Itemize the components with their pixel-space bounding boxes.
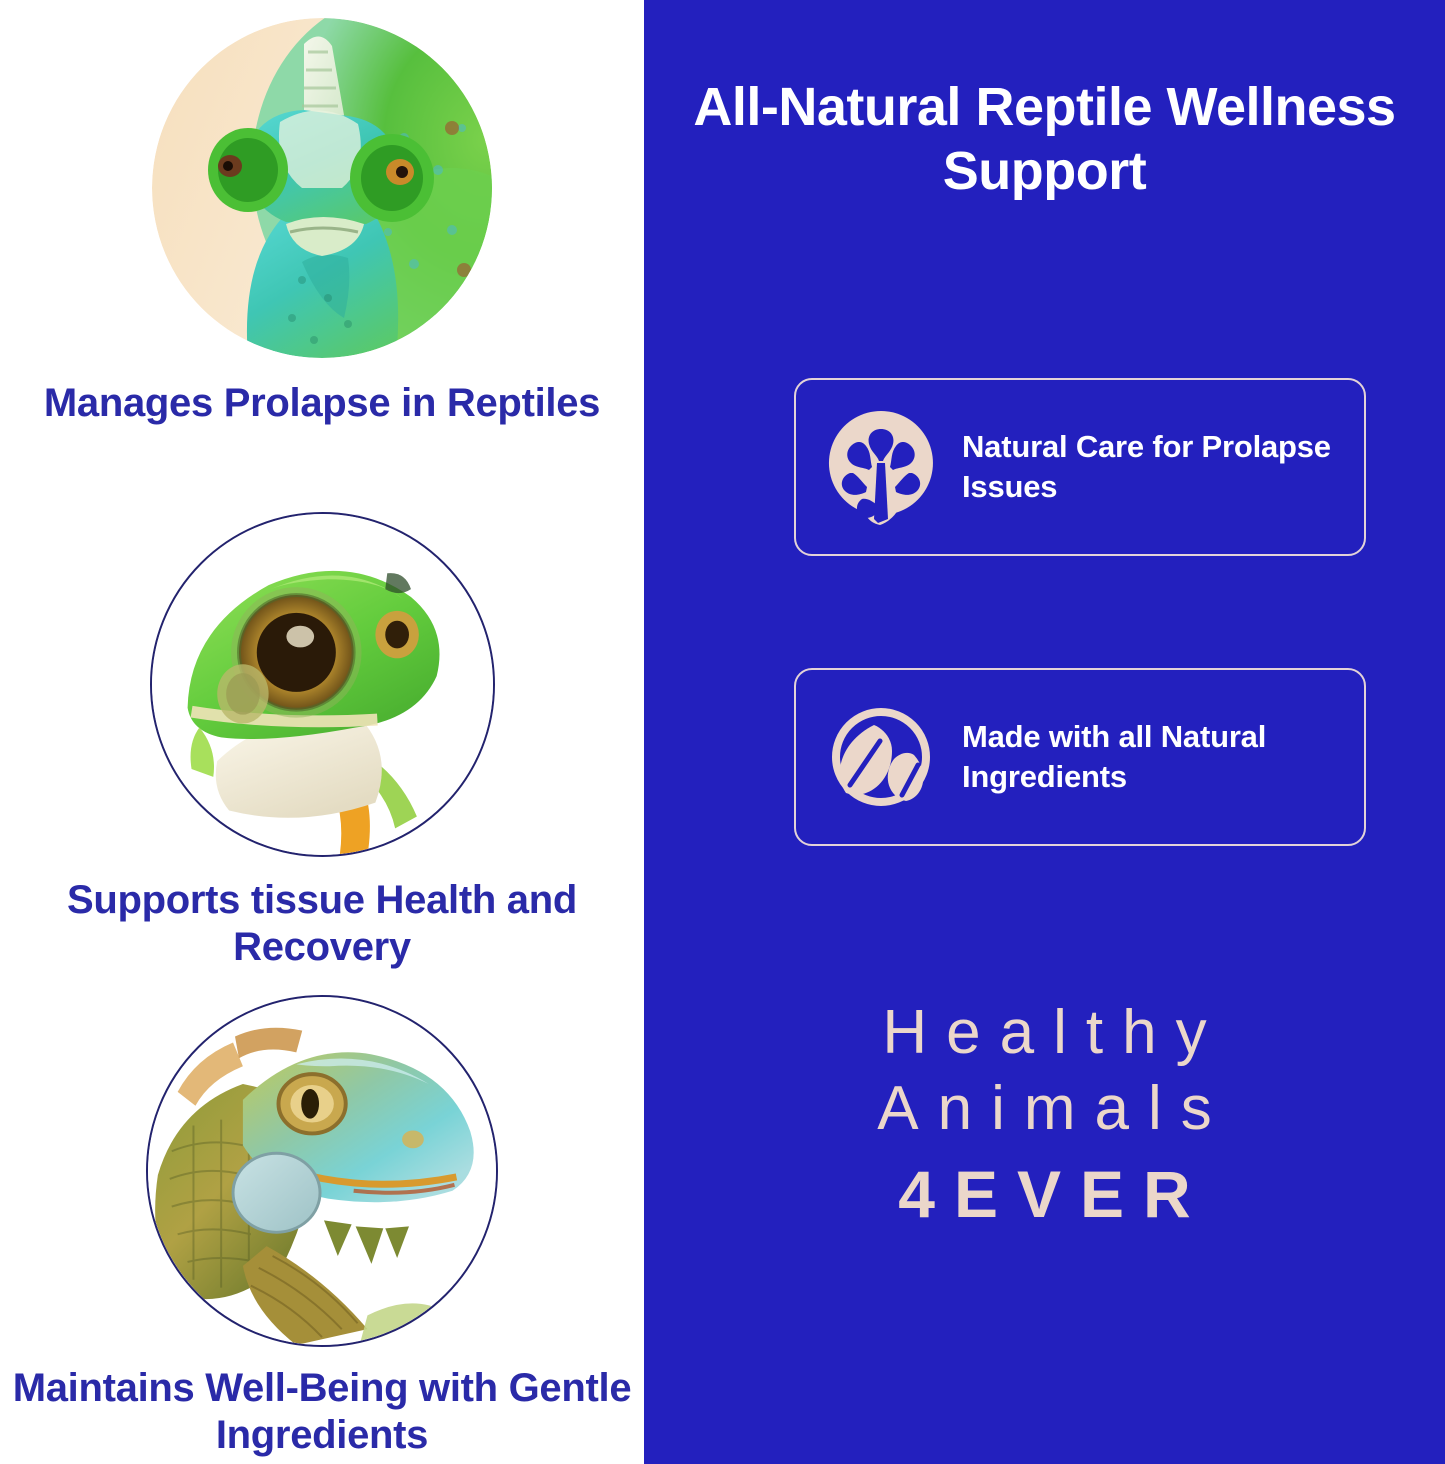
feature-caption: Maintains Well-Being with Gentle Ingredi… bbox=[0, 1365, 644, 1459]
iguana-photo bbox=[146, 995, 498, 1347]
product-feature-graphic: Manages Prolapse in Reptiles bbox=[0, 0, 1445, 1464]
iguana-illustration bbox=[148, 997, 496, 1345]
feature-caption: Manages Prolapse in Reptiles bbox=[44, 380, 600, 427]
tree-paw-icon bbox=[822, 407, 940, 527]
badge-natural-care: Natural Care for Prolapse Issues bbox=[794, 378, 1366, 556]
brand-line-2: Animals bbox=[644, 1071, 1445, 1147]
brand-line-1: Healthy bbox=[644, 995, 1445, 1071]
feature-caption: Supports tissue Health and Recovery bbox=[0, 877, 644, 971]
brand-line-3: 4EVER bbox=[644, 1152, 1445, 1238]
chameleon-illustration bbox=[152, 18, 492, 358]
brand-logo: Healthy Animals 4EVER bbox=[644, 995, 1445, 1238]
feature-item: Maintains Well-Being with Gentle Ingredi… bbox=[0, 995, 644, 1459]
brand-panel: All-Natural Reptile Wellness Support bbox=[644, 0, 1445, 1464]
badge-label: Natural Care for Prolapse Issues bbox=[962, 427, 1338, 506]
feature-item: Manages Prolapse in Reptiles bbox=[0, 18, 644, 427]
chameleon-photo bbox=[152, 18, 492, 358]
tree-frog-photo bbox=[150, 512, 495, 857]
feature-item: Supports tissue Health and Recovery bbox=[0, 512, 644, 971]
badge-natural-ingredients: Made with all Natural Ingredients bbox=[794, 668, 1366, 846]
features-column: Manages Prolapse in Reptiles bbox=[0, 0, 644, 1464]
tree-frog-illustration bbox=[152, 514, 493, 855]
badge-label: Made with all Natural Ingredients bbox=[962, 717, 1338, 796]
leaves-circle-icon bbox=[822, 697, 940, 817]
page-title: All-Natural Reptile Wellness Support bbox=[644, 76, 1445, 203]
